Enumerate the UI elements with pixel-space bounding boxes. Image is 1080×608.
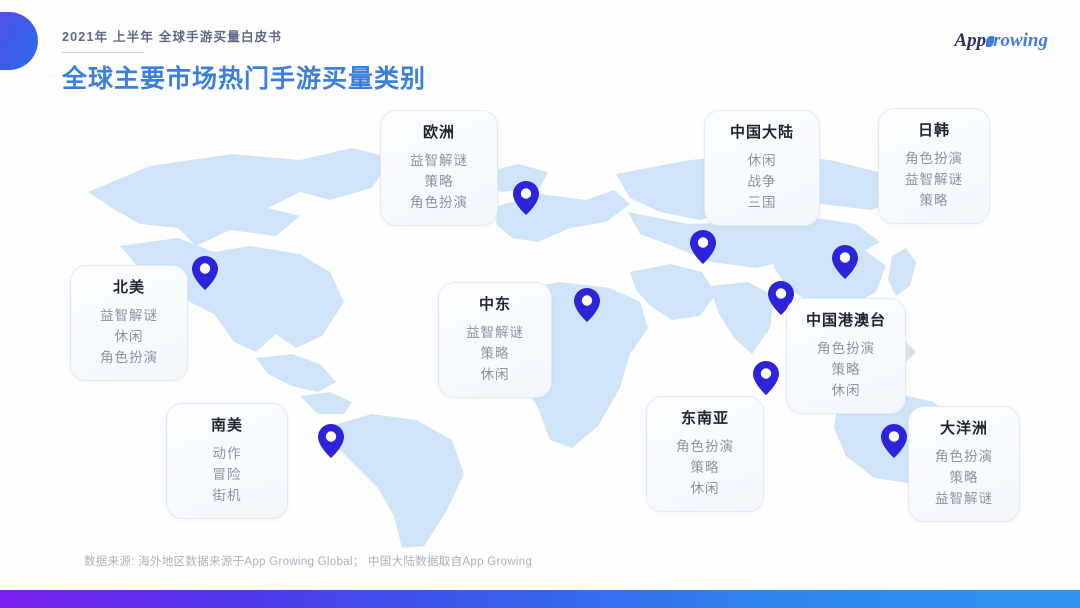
pin-north-america[interactable] (192, 256, 218, 290)
slide-canvas: 2021年 上半年 全球手游买量白皮书 全球主要市场热门手游买量类别 App r… (0, 0, 1080, 608)
region-card-genre: 三国 (719, 192, 805, 213)
region-card-europe[interactable]: 欧洲 益智解谜 策略 角色扮演 (380, 110, 498, 226)
decorative-corner-blob (0, 12, 38, 70)
region-card-genre: 街机 (181, 485, 273, 506)
region-card-genre: 益智解谜 (395, 150, 483, 171)
region-card-southeast-asia[interactable]: 东南亚 角色扮演 策略 休闲 (646, 396, 764, 512)
region-card-genre: 益智解谜 (453, 322, 537, 343)
region-card-north-america[interactable]: 北美 益智解谜 休闲 角色扮演 (70, 265, 188, 381)
region-card-title: 东南亚 (661, 407, 749, 428)
pin-south-america[interactable] (318, 424, 344, 458)
region-card-japan-korea[interactable]: 日韩 角色扮演 益智解谜 策略 (878, 108, 990, 224)
region-card-genre: 策略 (395, 171, 483, 192)
region-card-title: 欧洲 (395, 121, 483, 142)
region-card-genre: 益智解谜 (85, 305, 173, 326)
kicker-text: 2021年 上半年 全球手游买量白皮书 (62, 26, 426, 45)
region-card-genre: 角色扮演 (661, 436, 749, 457)
region-card-title: 日韩 (893, 119, 975, 140)
region-card-genre: 休闲 (801, 380, 891, 401)
region-card-title: 中国大陆 (719, 121, 805, 142)
region-card-title: 北美 (85, 276, 173, 297)
region-card-genre: 角色扮演 (395, 192, 483, 213)
region-card-china-mainland[interactable]: 中国大陆 休闲 战争 三国 (704, 110, 820, 226)
page-title: 全球主要市场热门手游买量类别 (62, 59, 426, 95)
pin-europe[interactable] (513, 181, 539, 215)
pin-china-mainland[interactable] (690, 230, 716, 264)
region-card-genre: 角色扮演 (923, 446, 1005, 467)
region-card-genre: 策略 (893, 190, 975, 211)
app-growing-logo: App rowing (954, 30, 1048, 52)
region-card-genre: 战争 (719, 171, 805, 192)
region-card-genre: 休闲 (85, 326, 173, 347)
region-card-genre: 冒险 (181, 464, 273, 485)
pin-middle-east[interactable] (574, 288, 600, 322)
pin-oceania[interactable] (881, 424, 907, 458)
logo-text-app: App (954, 30, 986, 52)
header-divider (62, 52, 144, 53)
region-card-genre: 休闲 (661, 478, 749, 499)
region-card-genre: 休闲 (719, 150, 805, 171)
pin-japan-korea[interactable] (832, 245, 858, 279)
region-card-genre: 策略 (453, 343, 537, 364)
region-card-genre: 角色扮演 (85, 347, 173, 368)
bottom-gradient-bar (0, 590, 1080, 608)
region-card-oceania[interactable]: 大洋洲 角色扮演 策略 益智解谜 (908, 406, 1020, 522)
region-card-genre: 角色扮演 (801, 338, 891, 359)
region-card-title: 中东 (453, 293, 537, 314)
region-card-title: 中国港澳台 (801, 309, 891, 330)
pin-southeast-asia[interactable] (753, 361, 779, 395)
region-card-genre: 策略 (661, 457, 749, 478)
region-card-greater-china[interactable]: 中国港澳台 角色扮演 策略 休闲 (786, 298, 906, 414)
region-card-south-america[interactable]: 南美 动作 冒险 街机 (166, 403, 288, 519)
data-source-note: 数据来源: 海外地区数据来源于App Growing Global； 中国大陆数… (84, 553, 532, 569)
region-card-title: 南美 (181, 414, 273, 435)
region-card-genre: 策略 (801, 359, 891, 380)
region-card-genre: 动作 (181, 443, 273, 464)
region-card-genre: 休闲 (453, 364, 537, 385)
region-card-genre: 策略 (923, 467, 1005, 488)
header: 2021年 上半年 全球手游买量白皮书 全球主要市场热门手游买量类别 (62, 26, 426, 95)
region-card-genre: 益智解谜 (893, 169, 975, 190)
logo-text-growing: rowing (993, 30, 1048, 52)
region-card-title: 大洋洲 (923, 417, 1005, 438)
region-card-genre: 益智解谜 (923, 488, 1005, 509)
region-card-genre: 角色扮演 (893, 148, 975, 169)
region-card-middle-east[interactable]: 中东 益智解谜 策略 休闲 (438, 282, 552, 398)
